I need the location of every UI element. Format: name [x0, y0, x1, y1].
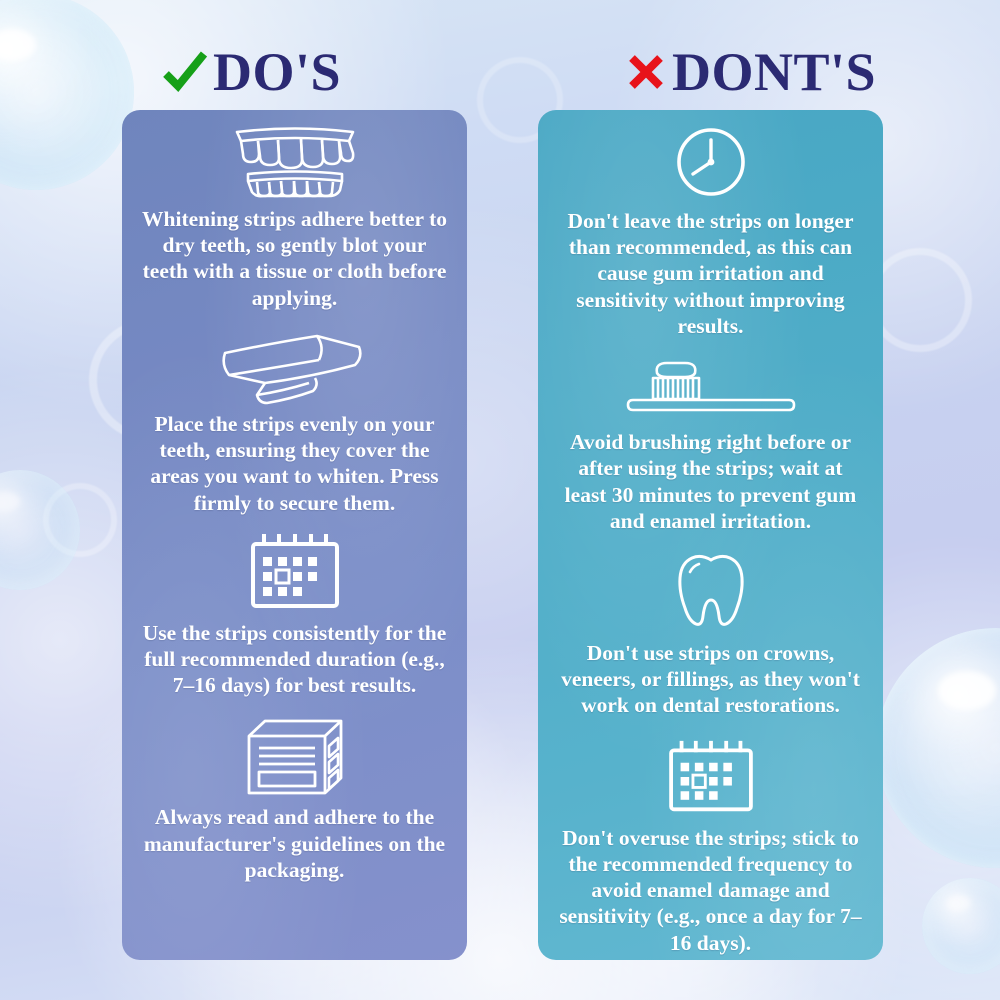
dos-entry: Always read and adhere to the manufactur…	[138, 716, 451, 883]
clock-icon	[554, 124, 867, 200]
donts-entry: Don't leave the strips on longer than re…	[554, 124, 867, 339]
headings-row: DO'S DONT'S	[0, 36, 1000, 108]
donts-entry-text: Avoid brushing right before or after usi…	[554, 429, 867, 534]
dos-heading-text: DO'S	[213, 45, 341, 99]
donts-heading-text: DONT'S	[672, 45, 876, 99]
donts-entry: Don't overuse the strips; stick to the r…	[554, 739, 867, 956]
donts-heading-group: DONT'S	[500, 36, 1000, 108]
dos-heading-group: DO'S	[0, 36, 500, 108]
donts-entry: Avoid brushing right before or after usi…	[554, 355, 867, 534]
dos-panel: Whitening strips adhere better to dry te…	[122, 110, 467, 960]
dos-entry-text: Use the strips consistently for the full…	[138, 620, 451, 699]
product-box-icon	[138, 716, 451, 798]
dos-entry-text: Place the strips evenly on your teeth, e…	[138, 411, 451, 516]
calendar-icon	[138, 532, 451, 612]
bubble-decoration	[876, 628, 1000, 868]
tooth-icon	[554, 552, 867, 630]
donts-panel: Don't leave the strips on longer than re…	[538, 110, 883, 960]
dos-entry-text: Always read and adhere to the manufactur…	[138, 804, 451, 883]
dos-entry: Whitening strips adhere better to dry te…	[138, 124, 451, 311]
bubble-decoration	[0, 470, 80, 590]
donts-entry-text: Don't leave the strips on longer than re…	[554, 208, 867, 339]
bubble-decoration	[922, 878, 1000, 974]
donts-entry: Don't use strips on crowns, veneers, or …	[554, 552, 867, 719]
cross-icon	[624, 50, 668, 94]
donts-entry-text: Don't use strips on crowns, veneers, or …	[554, 640, 867, 719]
dos-entry: Place the strips evenly on your teeth, e…	[138, 331, 451, 516]
donts-entry-text: Don't overuse the strips; stick to the r…	[554, 825, 867, 956]
toothbrush-icon	[554, 355, 867, 417]
calendar-icon	[554, 739, 867, 815]
dos-entry-text: Whitening strips adhere better to dry te…	[138, 206, 451, 311]
check-icon	[159, 47, 209, 97]
teeth-icon	[138, 124, 451, 198]
dos-entry: Use the strips consistently for the full…	[138, 532, 451, 699]
whitening-strip-icon	[138, 331, 451, 409]
infographic-canvas: DO'S DONT'S	[0, 0, 1000, 1000]
